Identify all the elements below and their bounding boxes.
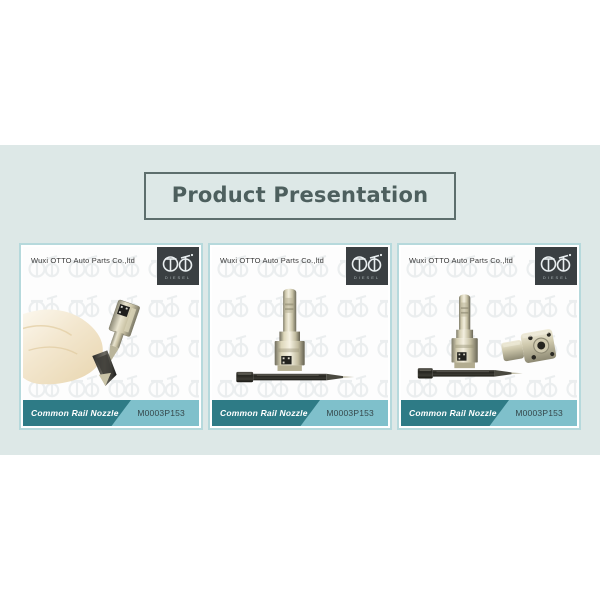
logo-subtitle: DIESEL [354, 275, 380, 280]
vertical-nozzle-and-needle-image [212, 281, 388, 400]
card-header: Wuxi OTTO Auto Parts Co.,ltd [212, 247, 388, 281]
logo-subtitle: DIESEL [543, 275, 569, 280]
page-title-wrap: Product Presentation [0, 172, 600, 220]
otto-diesel-logo: DIESEL [535, 247, 577, 285]
part-number: M0003P153 [137, 400, 185, 426]
product-photo-area [212, 281, 388, 400]
otto-diesel-logo: DIESEL [346, 247, 388, 285]
page-title-box: Product Presentation [144, 172, 456, 220]
product-card-inner: Wuxi OTTO Auto Parts Co.,ltd [212, 247, 388, 426]
part-number: M0003P153 [515, 400, 563, 426]
product-presentation-page: Product Presentation [0, 0, 600, 600]
card-header: Wuxi OTTO Auto Parts Co.,ltd [23, 247, 199, 281]
product-card-list: Wuxi OTTO Auto Parts Co.,ltd [0, 243, 600, 430]
page-title: Product Presentation [172, 183, 428, 207]
two-nozzles-and-needle-image [401, 281, 577, 400]
card-footer: Common Rail Nozzle M0003P153 [401, 400, 577, 426]
card-header: Wuxi OTTO Auto Parts Co.,ltd [401, 247, 577, 281]
product-card[interactable]: Wuxi OTTO Auto Parts Co.,ltd [208, 243, 392, 430]
company-name: Wuxi OTTO Auto Parts Co.,ltd [23, 247, 157, 265]
product-card[interactable]: Wuxi OTTO Auto Parts Co.,ltd [397, 243, 581, 430]
product-card-inner: Wuxi OTTO Auto Parts Co.,ltd [401, 247, 577, 426]
otto-diesel-logo: DIESEL [157, 247, 199, 285]
gloved-hand-holding-nozzle-image [23, 281, 199, 400]
product-photo-area [23, 281, 199, 400]
company-name: Wuxi OTTO Auto Parts Co.,ltd [401, 247, 535, 265]
footer-label: Common Rail Nozzle [409, 400, 497, 426]
logo-subtitle: DIESEL [165, 275, 191, 280]
product-card-inner: Wuxi OTTO Auto Parts Co.,ltd [23, 247, 199, 426]
product-card[interactable]: Wuxi OTTO Auto Parts Co.,ltd [19, 243, 203, 430]
footer-label: Common Rail Nozzle [220, 400, 308, 426]
card-footer: Common Rail Nozzle M0003P153 [212, 400, 388, 426]
company-name: Wuxi OTTO Auto Parts Co.,ltd [212, 247, 346, 265]
footer-label: Common Rail Nozzle [31, 400, 119, 426]
card-footer: Common Rail Nozzle M0003P153 [23, 400, 199, 426]
part-number: M0003P153 [326, 400, 374, 426]
product-photo-area [401, 281, 577, 400]
